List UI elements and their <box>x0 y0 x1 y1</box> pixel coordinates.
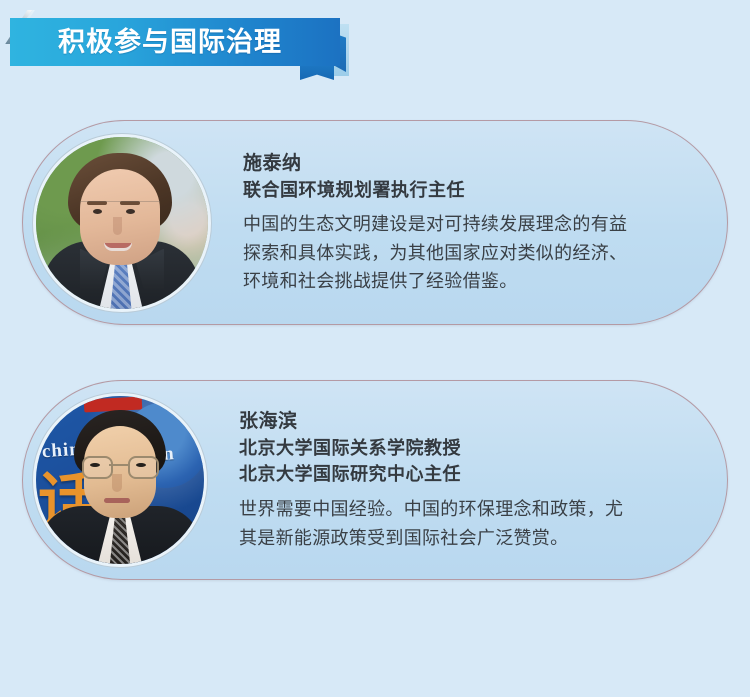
portrait-eye-right <box>136 463 146 467</box>
avatar-person-2: chin .cn 话 <box>33 393 207 567</box>
portrait-glasses-left <box>82 456 113 479</box>
avatar-person-1 <box>33 134 211 312</box>
person-title-line: 北京大学国际关系学院教授 <box>239 435 641 461</box>
person-card-2: chin .cn 话 张海滨 北京大学国际关系学院教授 北京大学国际研究中心主任… <box>22 380 728 580</box>
person-card-2-text: 张海滨 北京大学国际关系学院教授 北京大学国际研究中心主任 世界需要中国经验。中… <box>207 408 727 553</box>
portrait-nose <box>112 474 122 492</box>
person-title-line: 联合国环境规划署执行主任 <box>243 177 641 203</box>
header-banner: 积极参与国际治理 <box>0 0 360 86</box>
page-title: 积极参与国际治理 <box>58 29 282 56</box>
person-name: 张海滨 <box>239 408 641 436</box>
person-card-1: 施泰纳 联合国环境规划署执行主任 中国的生态文明建设是对可持续发展理念的有益探索… <box>22 120 728 325</box>
portrait-mouth <box>104 243 132 251</box>
person-title-line: 北京大学国际研究中心主任 <box>239 461 641 487</box>
person-quote: 世界需要中国经验。中国的环保理念和政策，尤其是新能源政策受到国际社会广泛赞赏。 <box>239 495 641 552</box>
person-card-1-text: 施泰纳 联合国环境规划署执行主任 中国的生态文明建设是对可持续发展理念的有益探索… <box>211 150 727 296</box>
portrait-nose <box>113 217 122 235</box>
banner-bar: 积极参与国际治理 <box>10 18 340 66</box>
portrait-glasses-right <box>128 456 159 479</box>
portrait-glasses-bridge <box>109 464 128 466</box>
person-name: 施泰纳 <box>243 150 641 178</box>
portrait-mouth <box>104 498 130 503</box>
banner-ribbon-drop <box>300 66 334 80</box>
portrait-eye-left <box>90 463 100 467</box>
person-quote: 中国的生态文明建设是对可持续发展理念的有益探索和具体实践，为其他国家应对类似的经… <box>243 210 641 295</box>
